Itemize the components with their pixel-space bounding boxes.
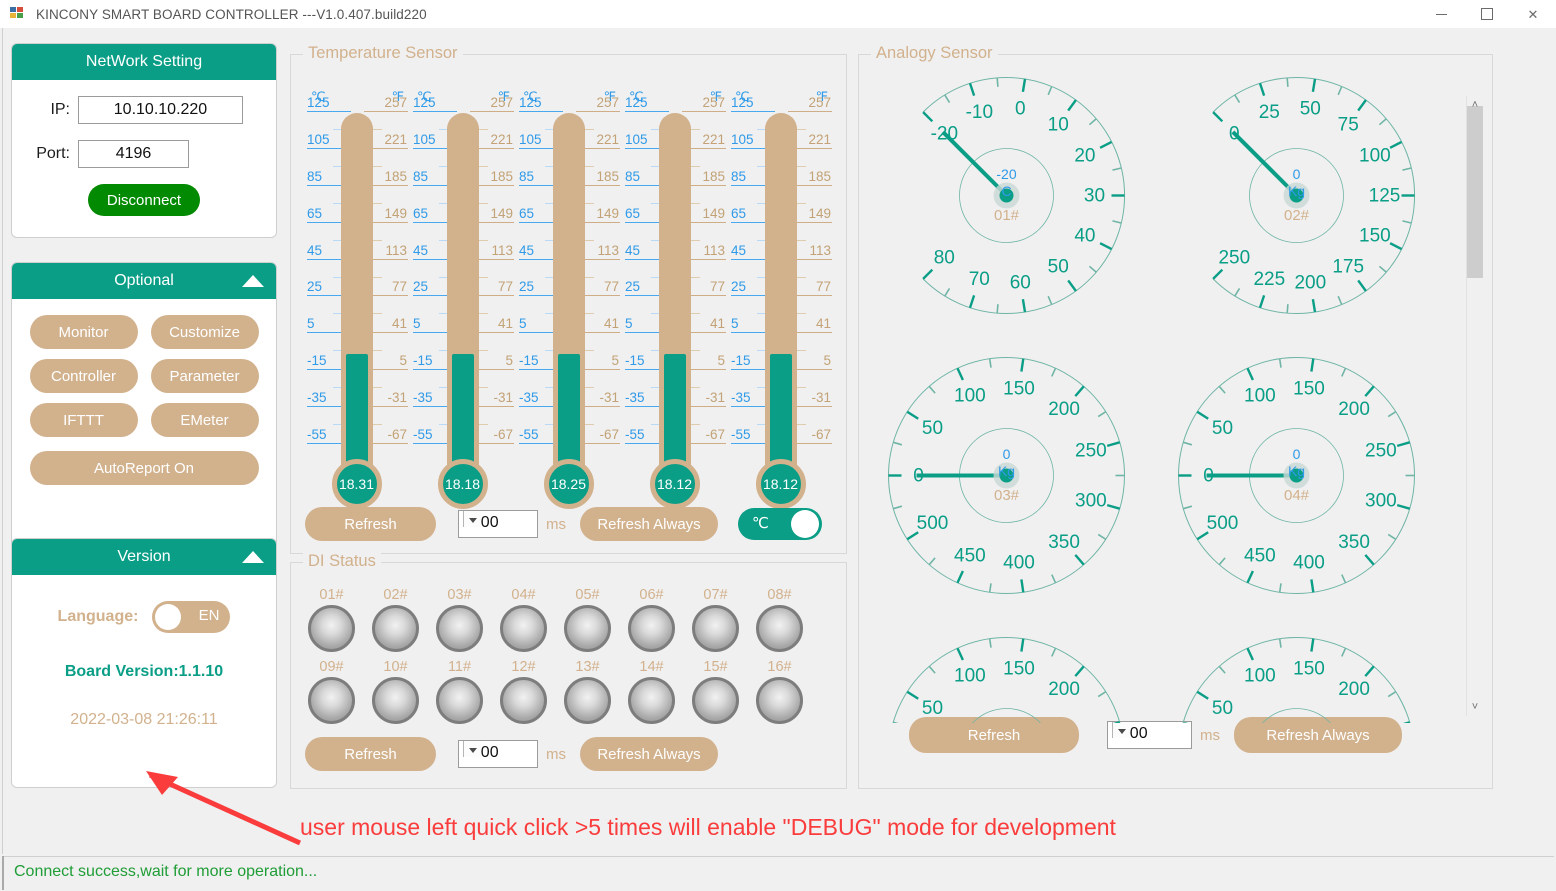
language-toggle[interactable]: EN: [152, 601, 230, 633]
gauge-tick-label: 100: [1244, 386, 1276, 407]
di-led-indicator: [756, 605, 803, 652]
gauge-readout: 0Kg02#: [1237, 166, 1357, 226]
di-led-indicator: [692, 677, 739, 724]
scale-label-f: 5: [823, 353, 831, 368]
di-channel-label: 02#: [367, 587, 424, 603]
scale-label-f: -31: [811, 390, 831, 405]
gauge-tick-label: 150: [1293, 378, 1325, 399]
scale-label-f: 149: [702, 206, 725, 221]
di-interval-input[interactable]: 1000: [458, 740, 538, 768]
scale-label-f: -67: [387, 427, 407, 442]
di-channel-label: 04#: [495, 587, 552, 603]
gauge-tick-label: 100: [1244, 666, 1276, 687]
di-led-indicator: [372, 605, 419, 652]
version-body: Language: EN Board Version:1.1.10 2022-0…: [12, 575, 276, 729]
ip-input[interactable]: 10.10.10.220: [78, 96, 243, 124]
thermometer-tube: [553, 113, 585, 478]
di-led-indicator: [436, 677, 483, 724]
scale-label-f: -67: [705, 427, 725, 442]
emeter-button[interactable]: EMeter: [151, 403, 259, 437]
thermometer-tube: [341, 113, 373, 478]
di-channel-13[interactable]: 13#: [559, 659, 616, 724]
di-channel-05[interactable]: 05#: [559, 587, 616, 652]
di-led-indicator: [308, 605, 355, 652]
scale-label-c: 5: [731, 316, 739, 331]
gauge-tick-label: 400: [1293, 553, 1325, 574]
scale-label-c: -35: [731, 390, 751, 405]
status-message: Connect success,wait for more operation.…: [14, 863, 317, 881]
gauge-value: 0: [947, 446, 1067, 463]
scale-label-c: -55: [307, 427, 327, 442]
gauge-tick-label: 250: [1365, 441, 1397, 462]
minimize-button[interactable]: [1418, 0, 1464, 28]
gauge-tick-label: 60: [1010, 272, 1031, 293]
language-label: Language:: [58, 608, 139, 626]
gauge-tick-label: 200: [1048, 679, 1080, 700]
status-bar: Connect success,wait for more operation.…: [2, 856, 1554, 891]
scale-label-c: 65: [731, 206, 746, 221]
di-led-indicator: [756, 677, 803, 724]
controller-button[interactable]: Controller: [30, 359, 138, 393]
di-channel-04[interactable]: 04#: [495, 587, 552, 652]
di-channel-12[interactable]: 12#: [495, 659, 552, 724]
scale-label-f: 5: [399, 353, 407, 368]
gauge-04: 0501001502002503003504004505000Kg04#: [1169, 348, 1424, 603]
di-channel-label: 15#: [687, 659, 744, 675]
di-channel-11[interactable]: 11#: [431, 659, 488, 724]
gauge-value: 0: [1237, 166, 1357, 183]
scale-label-c: 25: [519, 279, 534, 294]
scale-label-c: 45: [307, 243, 322, 258]
scale-label-f: 41: [604, 316, 619, 331]
ifttt-button[interactable]: IFTTT: [30, 403, 138, 437]
di-channel-label: 10#: [367, 659, 424, 675]
gauge-tick-label: 100: [954, 666, 986, 687]
gauge-tick-label: 100: [1359, 146, 1391, 167]
ip-label: IP:: [12, 101, 78, 119]
di-channel-label: 11#: [431, 659, 488, 675]
scale-label-f: 5: [717, 353, 725, 368]
di-refresh-always-button[interactable]: Refresh Always: [580, 737, 718, 771]
gauge-tick-label: 50: [1048, 257, 1069, 278]
app-body: NetWork Setting IP: 10.10.10.220 Port: 4…: [0, 28, 1556, 890]
scale-label-c: 45: [731, 243, 746, 258]
scale-label-c: 25: [625, 279, 640, 294]
gauge-01: -20-1001020304050607080-20C01#: [879, 68, 1134, 323]
ip-row: IP: 10.10.10.220: [12, 96, 276, 124]
scale-label-f: 77: [710, 279, 725, 294]
thermometer-3: ℃℉1252571052218518565149451132577541-155…: [515, 89, 622, 504]
chevron-up-icon[interactable]: [242, 551, 264, 563]
gauge-value: 0: [1237, 446, 1357, 463]
di-channel-label: 05#: [559, 587, 616, 603]
gauge-tick-label: 50: [922, 418, 943, 439]
scale-label-c: -15: [307, 353, 327, 368]
status-bar-edge: [2, 856, 4, 890]
thermometer-reading: 18.31: [332, 459, 382, 509]
di-led-indicator: [692, 605, 739, 652]
gauge-unit: Kg: [947, 463, 1067, 480]
scale-label-c: 105: [731, 132, 754, 147]
scale-label-c: 105: [625, 132, 648, 147]
toggle-knob: [155, 604, 181, 630]
scale-label-f: -31: [599, 390, 619, 405]
scale-label-c: -15: [413, 353, 433, 368]
scale-label-f: 221: [808, 132, 831, 147]
gauge-tick-label: 10: [1048, 114, 1069, 135]
scale-label-f: 113: [703, 243, 725, 258]
scale-label-f: 257: [384, 95, 407, 110]
gauge-dial: 050100150200250300350400450500: [1169, 628, 1424, 723]
gauge-tick-label: 300: [1365, 490, 1397, 511]
thermometer-4: ℃℉1252571052218518565149451132577541-155…: [621, 89, 728, 504]
scale-label-c: 85: [307, 169, 322, 184]
thermometer-1: ℃℉1252571052218518565149451132577541-155…: [303, 89, 410, 504]
scale-label-c: -35: [307, 390, 327, 405]
gauge-tick-label: 50: [922, 698, 943, 719]
di-channel-label: 03#: [431, 587, 488, 603]
scale-label-f: 257: [702, 95, 725, 110]
maximize-button[interactable]: [1464, 0, 1510, 28]
scale-label-c: 45: [519, 243, 534, 258]
gauge-readout: -20C01#: [947, 166, 1067, 226]
gauge-unit: Kg: [1237, 463, 1357, 480]
scale-label-f: 5: [611, 353, 619, 368]
scale-label-f: 77: [604, 279, 619, 294]
scale-label-c: 105: [413, 132, 436, 147]
di-channel-label: 09#: [303, 659, 360, 675]
optional-panel: Optional Monitor Customize Controller Pa…: [11, 262, 277, 555]
gauge-tick-label: 20: [1074, 146, 1095, 167]
di-channel-label: 08#: [751, 587, 808, 603]
scale-label-c: -35: [625, 390, 645, 405]
version-title: Version: [117, 548, 170, 566]
scale-label-c: 105: [519, 132, 542, 147]
analogy-group-title: Analogy Sensor: [871, 44, 998, 63]
thermometer-reading: 18.25: [544, 459, 594, 509]
parameter-button[interactable]: Parameter: [151, 359, 259, 393]
gauge-tick-label: 80: [934, 248, 955, 269]
scroll-down-icon[interactable]: ˅: [1466, 698, 1484, 716]
temperature-group-title: Temperature Sensor: [303, 44, 463, 63]
gauge-readout: 0Kg03#: [947, 446, 1067, 506]
gauge-readout: 0Kg04#: [1237, 446, 1357, 506]
scale-label-c: 25: [413, 279, 428, 294]
scale-label-c: -15: [731, 353, 751, 368]
scale-label-c: -55: [413, 427, 433, 442]
spinner-down-icon[interactable]: [1112, 725, 1130, 738]
scale-label-c: 85: [731, 169, 746, 184]
gauge-scroll-viewport: -20-1001020304050607080-20C01#0255075100…: [859, 68, 1473, 723]
gauge-tick-label: 250: [1365, 721, 1397, 723]
scroll-up-icon[interactable]: ˄: [1466, 96, 1484, 114]
scale-label-c: 5: [307, 316, 315, 331]
di-channel-label: 01#: [303, 587, 360, 603]
chevron-up-icon[interactable]: [242, 275, 264, 287]
scale-label-f: 113: [809, 243, 831, 258]
gauge-scrollbar-thumb[interactable]: [1467, 106, 1483, 278]
di-led-indicator: [308, 677, 355, 724]
scale-label-c: 105: [307, 132, 330, 147]
window-title: KINCONY SMART BOARD CONTROLLER ---V1.0.4…: [36, 7, 427, 22]
di-channel-15[interactable]: 15#: [687, 659, 744, 724]
gauge-tick-label: 150: [1003, 658, 1035, 679]
port-input[interactable]: 4196: [78, 140, 189, 168]
di-channel-07[interactable]: 07#: [687, 587, 744, 652]
spinner-down-icon[interactable]: [463, 744, 481, 757]
scale-label-c: 5: [413, 316, 421, 331]
scale-label-f: 221: [384, 132, 407, 147]
scale-label-f: 41: [710, 316, 725, 331]
gauge-id: 02#: [1237, 206, 1357, 226]
thermometer-tube: [659, 113, 691, 478]
di-channel-06[interactable]: 06#: [623, 587, 680, 652]
temperature-refresh-always-button[interactable]: Refresh Always: [580, 507, 718, 541]
scale-label-f: 149: [384, 206, 407, 221]
temperature-unit-toggle[interactable]: ℃: [738, 508, 822, 540]
scale-label-f: -67: [599, 427, 619, 442]
gauge-value: -20: [947, 166, 1067, 183]
scale-label-c: -55: [731, 427, 751, 442]
gauge-tick-label: 175: [1332, 257, 1364, 278]
gauge-tick-label: 225: [1253, 269, 1285, 290]
disconnect-button[interactable]: Disconnect: [88, 184, 200, 216]
network-setting-title: NetWork Setting: [86, 53, 202, 71]
di-channel-label: 06#: [623, 587, 680, 603]
temperature-interval-unit: ms: [546, 516, 566, 533]
gauge-tick-label: 200: [1294, 272, 1326, 293]
gauge-tick-label: 100: [954, 386, 986, 407]
scale-label-c: -35: [413, 390, 433, 405]
build-time-label[interactable]: 2022-03-08 21:26:11: [12, 711, 276, 729]
scale-label-f: 5: [505, 353, 513, 368]
gauge-tick-label: 150: [1359, 226, 1391, 247]
scale-label-f: 113: [491, 243, 513, 258]
gauge-tick-label: 350: [1338, 532, 1370, 553]
gauge-unit: Kg: [1237, 183, 1357, 200]
gauge-tick-label: 40: [1074, 226, 1095, 247]
scale-label-f: 113: [597, 243, 619, 258]
network-setting-header: NetWork Setting: [12, 44, 276, 80]
scale-label-f: 77: [392, 279, 407, 294]
scale-label-f: 257: [808, 95, 831, 110]
scale-label-c: -35: [519, 390, 539, 405]
gauge-tick-label: 150: [1293, 658, 1325, 679]
scale-label-f: 221: [702, 132, 725, 147]
gauge-tick-label: 70: [969, 269, 990, 290]
language-row: Language: EN: [12, 601, 276, 633]
analog-interval-input[interactable]: 1000: [1107, 721, 1192, 749]
close-icon[interactable]: ✕: [1510, 0, 1556, 28]
gauge-id: 01#: [947, 206, 1067, 226]
di-led-indicator: [628, 605, 675, 652]
spinner-down-icon[interactable]: [463, 514, 481, 527]
scale-label-c: -15: [625, 353, 645, 368]
di-channel-16[interactable]: 16#: [751, 659, 808, 724]
temperature-unit-toggle-value: ℃: [752, 514, 769, 532]
toggle-knob: [791, 510, 819, 538]
thermometer-tube: [447, 113, 479, 478]
gauge-tick-label: 450: [1244, 546, 1276, 567]
di-channel-label: 16#: [751, 659, 808, 675]
gauge-05: 0501001502002503003504004505000Kg05#: [879, 628, 1134, 723]
scale-label-f: 113: [385, 243, 407, 258]
autoreport-button[interactable]: AutoReport On: [30, 451, 259, 485]
gauge-tick-label: 50: [1212, 698, 1233, 719]
di-channel-09[interactable]: 09#: [303, 659, 360, 724]
gauge-unit: C: [947, 183, 1067, 200]
scale-label-f: -31: [387, 390, 407, 405]
scale-label-c: -15: [519, 353, 539, 368]
scale-label-c: 5: [625, 316, 633, 331]
network-setting-panel: NetWork Setting IP: 10.10.10.220 Port: 4…: [11, 43, 277, 238]
scale-label-f: -31: [493, 390, 513, 405]
gauge-tick-label: 500: [1207, 513, 1239, 534]
monitor-button[interactable]: Monitor: [30, 315, 138, 349]
gauge-id: 04#: [1237, 486, 1357, 506]
di-channel-01[interactable]: 01#: [303, 587, 360, 652]
temperature-refresh-button[interactable]: Refresh: [305, 507, 436, 541]
di-channel-label: 12#: [495, 659, 552, 675]
gauge-06: 0501001502002503003504004505000Kg06#: [1169, 628, 1424, 723]
scale-label-c: 125: [519, 95, 542, 110]
optional-title: Optional: [114, 272, 174, 290]
gauge-03: 0501001502002503003504004505000Kg03#: [879, 348, 1134, 603]
scale-label-c: 5: [519, 316, 527, 331]
gauge-tick-label: 150: [1003, 378, 1035, 399]
gauge-tick-label: 200: [1338, 399, 1370, 420]
scale-label-c: 25: [307, 279, 322, 294]
scale-label-f: 149: [808, 206, 831, 221]
scale-label-c: 65: [625, 206, 640, 221]
scale-label-c: -55: [625, 427, 645, 442]
thermometer-5: ℃℉1252571052218518565149451132577541-155…: [727, 89, 834, 504]
scale-label-f: 185: [490, 169, 513, 184]
di-led-indicator: [564, 677, 611, 724]
scale-label-f: 185: [808, 169, 831, 184]
analog-interval-unit: ms: [1200, 727, 1220, 744]
di-channel-label: 07#: [687, 587, 744, 603]
gauge-tick-label: 75: [1338, 114, 1359, 135]
gauge-tick-label: 200: [1338, 679, 1370, 700]
optional-header[interactable]: Optional: [12, 263, 276, 299]
scale-label-c: 85: [625, 169, 640, 184]
di-led-indicator: [500, 605, 547, 652]
scale-label-c: 125: [731, 95, 754, 110]
scale-label-f: 257: [490, 95, 513, 110]
scale-label-c: 65: [307, 206, 322, 221]
di-channel-14[interactable]: 14#: [623, 659, 680, 724]
scale-label-f: 185: [384, 169, 407, 184]
scale-label-c: 125: [413, 95, 436, 110]
gauge-tick-label: 25: [1259, 102, 1280, 123]
di-channel-03[interactable]: 03#: [431, 587, 488, 652]
scale-label-c: 65: [413, 206, 428, 221]
di-status-group: DI Status 01#02#03#04#05#06#07#08#09#10#…: [290, 562, 847, 789]
scale-label-c: 85: [519, 169, 534, 184]
gauge-tick-label: 300: [1075, 490, 1107, 511]
scale-label-f: -67: [493, 427, 513, 442]
scale-label-c: 25: [731, 279, 746, 294]
thermometer-reading: 18.12: [650, 459, 700, 509]
di-controls: Refresh 1000 ms Refresh Always: [305, 737, 718, 771]
scale-label-f: 149: [490, 206, 513, 221]
scale-label-c: 45: [625, 243, 640, 258]
scale-label-f: 41: [816, 316, 831, 331]
di-status-group-title: DI Status: [303, 552, 381, 571]
gauge-tick-label: -10: [966, 102, 993, 123]
scale-label-f: 149: [596, 206, 619, 221]
window-controls: ✕: [1418, 0, 1556, 28]
gauge-tick-label: 250: [1218, 248, 1250, 269]
di-led-indicator: [436, 605, 483, 652]
scale-label-f: 221: [490, 132, 513, 147]
scale-label-c: 85: [413, 169, 428, 184]
scale-label-f: 41: [498, 316, 513, 331]
language-toggle-value: EN: [199, 607, 220, 624]
di-led-indicator: [500, 677, 547, 724]
di-led-indicator: [628, 677, 675, 724]
di-led-indicator: [372, 677, 419, 724]
gauge-tick-label: 0: [1015, 99, 1026, 120]
gauge-tick-label: 450: [954, 546, 986, 567]
gauge-id: 03#: [947, 486, 1067, 506]
di-channel-label: 13#: [559, 659, 616, 675]
scale-label-c: -55: [519, 427, 539, 442]
thermometer-reading: 18.18: [438, 459, 488, 509]
thermometer-tube: [765, 113, 797, 478]
gauge-tick-label: 50: [1300, 99, 1321, 120]
annotation-arrow-icon: [110, 763, 330, 858]
annotation-text: user mouse left quick click >5 times wil…: [300, 814, 1116, 841]
di-channel-02[interactable]: 02#: [367, 587, 424, 652]
scale-label-f: 185: [702, 169, 725, 184]
scale-label-c: 125: [307, 95, 330, 110]
thermometer-2: ℃℉1252571052218518565149451132577541-155…: [409, 89, 516, 504]
temperature-sensor-group: Temperature Sensor ℃℉1252571052218518565…: [290, 54, 847, 554]
temperature-controls: Refresh 1000 ms Refresh Always ℃: [305, 507, 822, 541]
optional-button-grid: Monitor Customize Controller Parameter I…: [12, 299, 276, 485]
version-panel: Version Language: EN Board Version:1.1.1…: [11, 538, 277, 788]
thermometer-reading: 18.12: [756, 459, 806, 509]
gauge-tick-label: 30: [1084, 186, 1105, 207]
port-row: Port: 4196: [12, 140, 276, 168]
scale-label-f: 41: [392, 316, 407, 331]
customize-button[interactable]: Customize: [151, 315, 259, 349]
gauge-tick-label: 500: [917, 513, 949, 534]
temperature-interval-input[interactable]: 1000: [458, 510, 538, 538]
scale-label-f: 221: [596, 132, 619, 147]
scale-label-f: -31: [705, 390, 725, 405]
scale-label-f: -67: [811, 427, 831, 442]
di-channel-08[interactable]: 08#: [751, 587, 808, 652]
version-header[interactable]: Version: [12, 539, 276, 575]
di-channel-label: 14#: [623, 659, 680, 675]
di-led-indicator: [564, 605, 611, 652]
title-bar: KINCONY SMART BOARD CONTROLLER ---V1.0.4…: [0, 0, 1556, 29]
scale-label-f: 185: [596, 169, 619, 184]
scale-label-c: 125: [625, 95, 648, 110]
gauge-02: 02550751001251501752002252500Kg02#: [1169, 68, 1424, 323]
scale-label-f: 257: [596, 95, 619, 110]
di-channel-10[interactable]: 10#: [367, 659, 424, 724]
gauge-tick-label: 250: [1075, 441, 1107, 462]
scale-label-c: 45: [413, 243, 428, 258]
gauge-tick-label: 400: [1003, 553, 1035, 574]
gauge-dial: 050100150200250300350400450500: [879, 628, 1134, 723]
di-interval-unit: ms: [546, 746, 566, 763]
app-icon: [10, 7, 26, 21]
